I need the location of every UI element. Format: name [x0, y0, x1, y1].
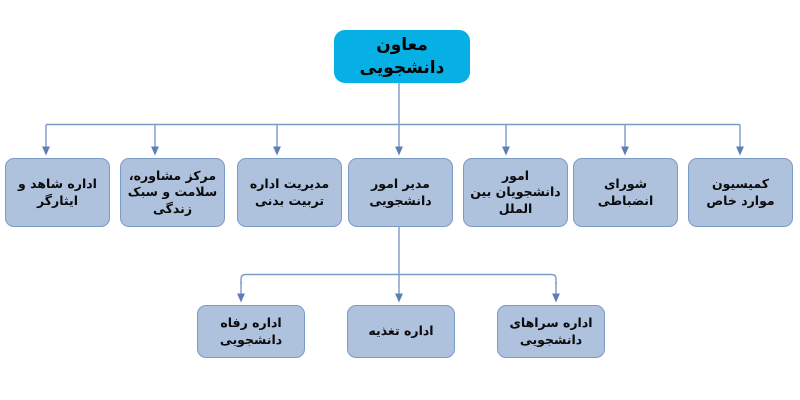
node-sub-2-label: اداره تغذیه — [353, 323, 449, 340]
node-sub-1[interactable]: اداره رفاه دانشجویی — [197, 305, 305, 358]
node-unit-5[interactable]: امور دانشجویان بین الملل — [463, 158, 568, 227]
node-root-label: معاون دانشجویی — [340, 34, 464, 79]
node-sub-1-label: اداره رفاه دانشجویی — [203, 315, 299, 348]
node-unit-3-label: مدیریت اداره تربیت بدنی — [243, 176, 336, 209]
connector-sub-bus — [241, 275, 556, 285]
node-unit-7-label: کمیسیون موارد خاص — [694, 176, 787, 209]
node-unit-4-label: مدیر امور دانشجویی — [354, 176, 447, 209]
node-unit-1[interactable]: اداره شاهد و ایثارگر — [5, 158, 110, 227]
org-chart: معاون دانشجویی اداره شاهد و ایثارگر مرکز… — [0, 0, 800, 400]
node-unit-2[interactable]: مرکز مشاوره، سلامت و سبک زندگی — [120, 158, 225, 227]
node-sub-3[interactable]: اداره سراهای دانشجویی — [497, 305, 605, 358]
node-unit-4[interactable]: مدیر امور دانشجویی — [348, 158, 453, 227]
node-unit-7[interactable]: کمیسیون موارد خاص — [688, 158, 793, 227]
node-unit-6-label: شورای انضباطی — [579, 176, 672, 209]
node-unit-1-label: اداره شاهد و ایثارگر — [11, 176, 104, 209]
node-unit-3[interactable]: مدیریت اداره تربیت بدنی — [237, 158, 342, 227]
node-sub-2[interactable]: اداره تغذیه — [347, 305, 455, 358]
node-root[interactable]: معاون دانشجویی — [334, 30, 470, 83]
node-unit-2-label: مرکز مشاوره، سلامت و سبک زندگی — [126, 168, 219, 218]
node-sub-3-label: اداره سراهای دانشجویی — [503, 315, 599, 348]
node-unit-5-label: امور دانشجویان بین الملل — [469, 168, 562, 218]
node-unit-6[interactable]: شورای انضباطی — [573, 158, 678, 227]
